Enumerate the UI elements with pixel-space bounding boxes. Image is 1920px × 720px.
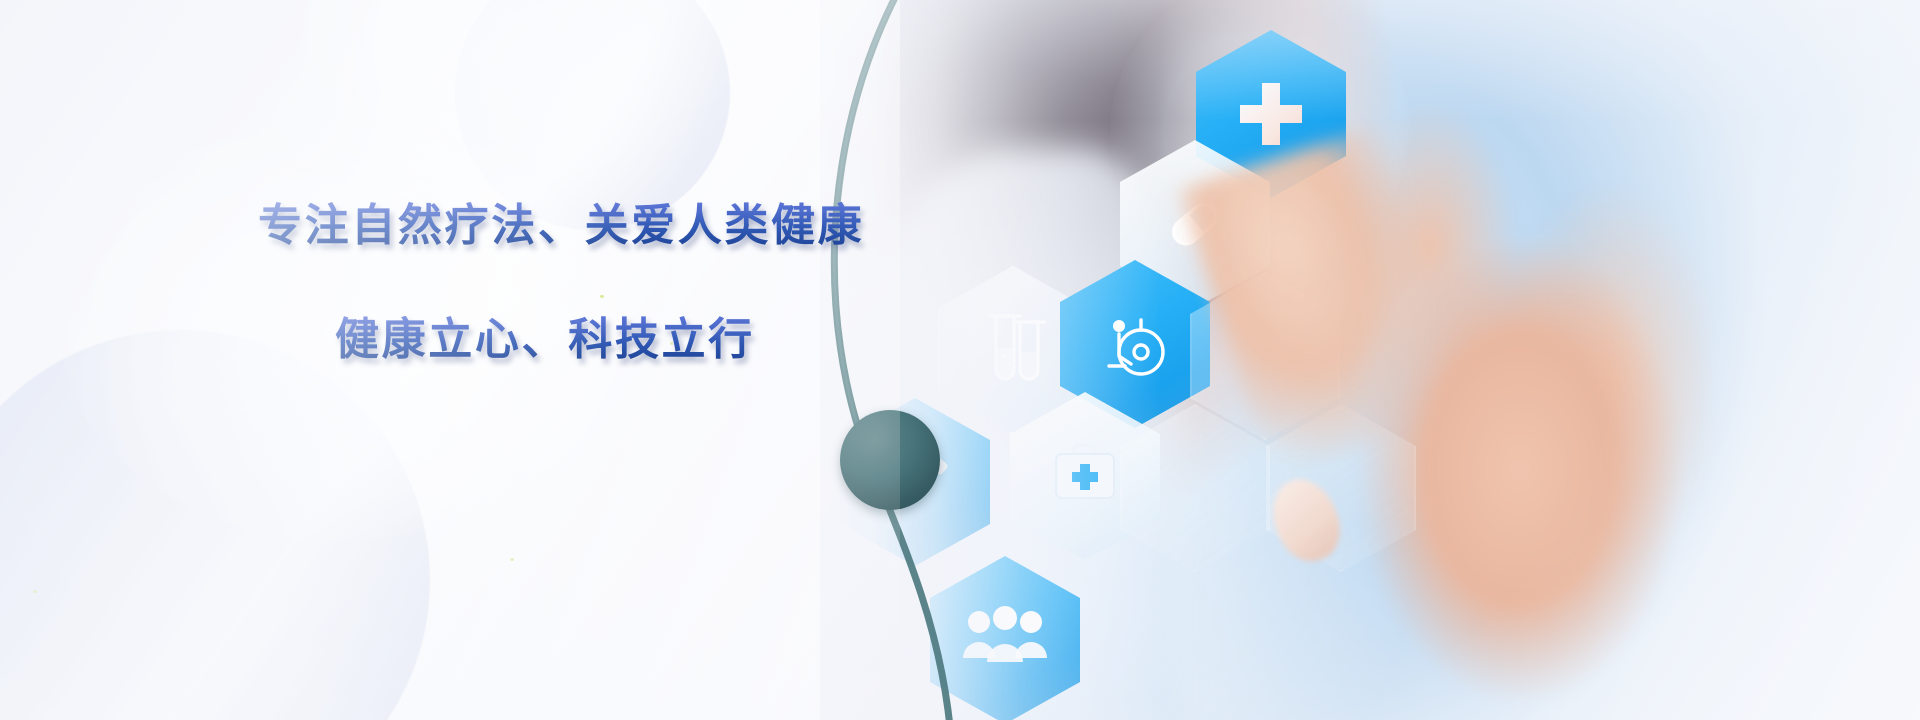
hero-banner: 专注自然疗法、关爱人类健康 健康立心、科技立行: [0, 0, 1920, 720]
headline-group: 专注自然疗法、关爱人类健康 健康立心、科技立行: [0, 0, 900, 720]
headline-line-2: 健康立心、科技立行: [335, 303, 755, 367]
headline-line-1: 专注自然疗法、关爱人类健康: [258, 189, 864, 253]
